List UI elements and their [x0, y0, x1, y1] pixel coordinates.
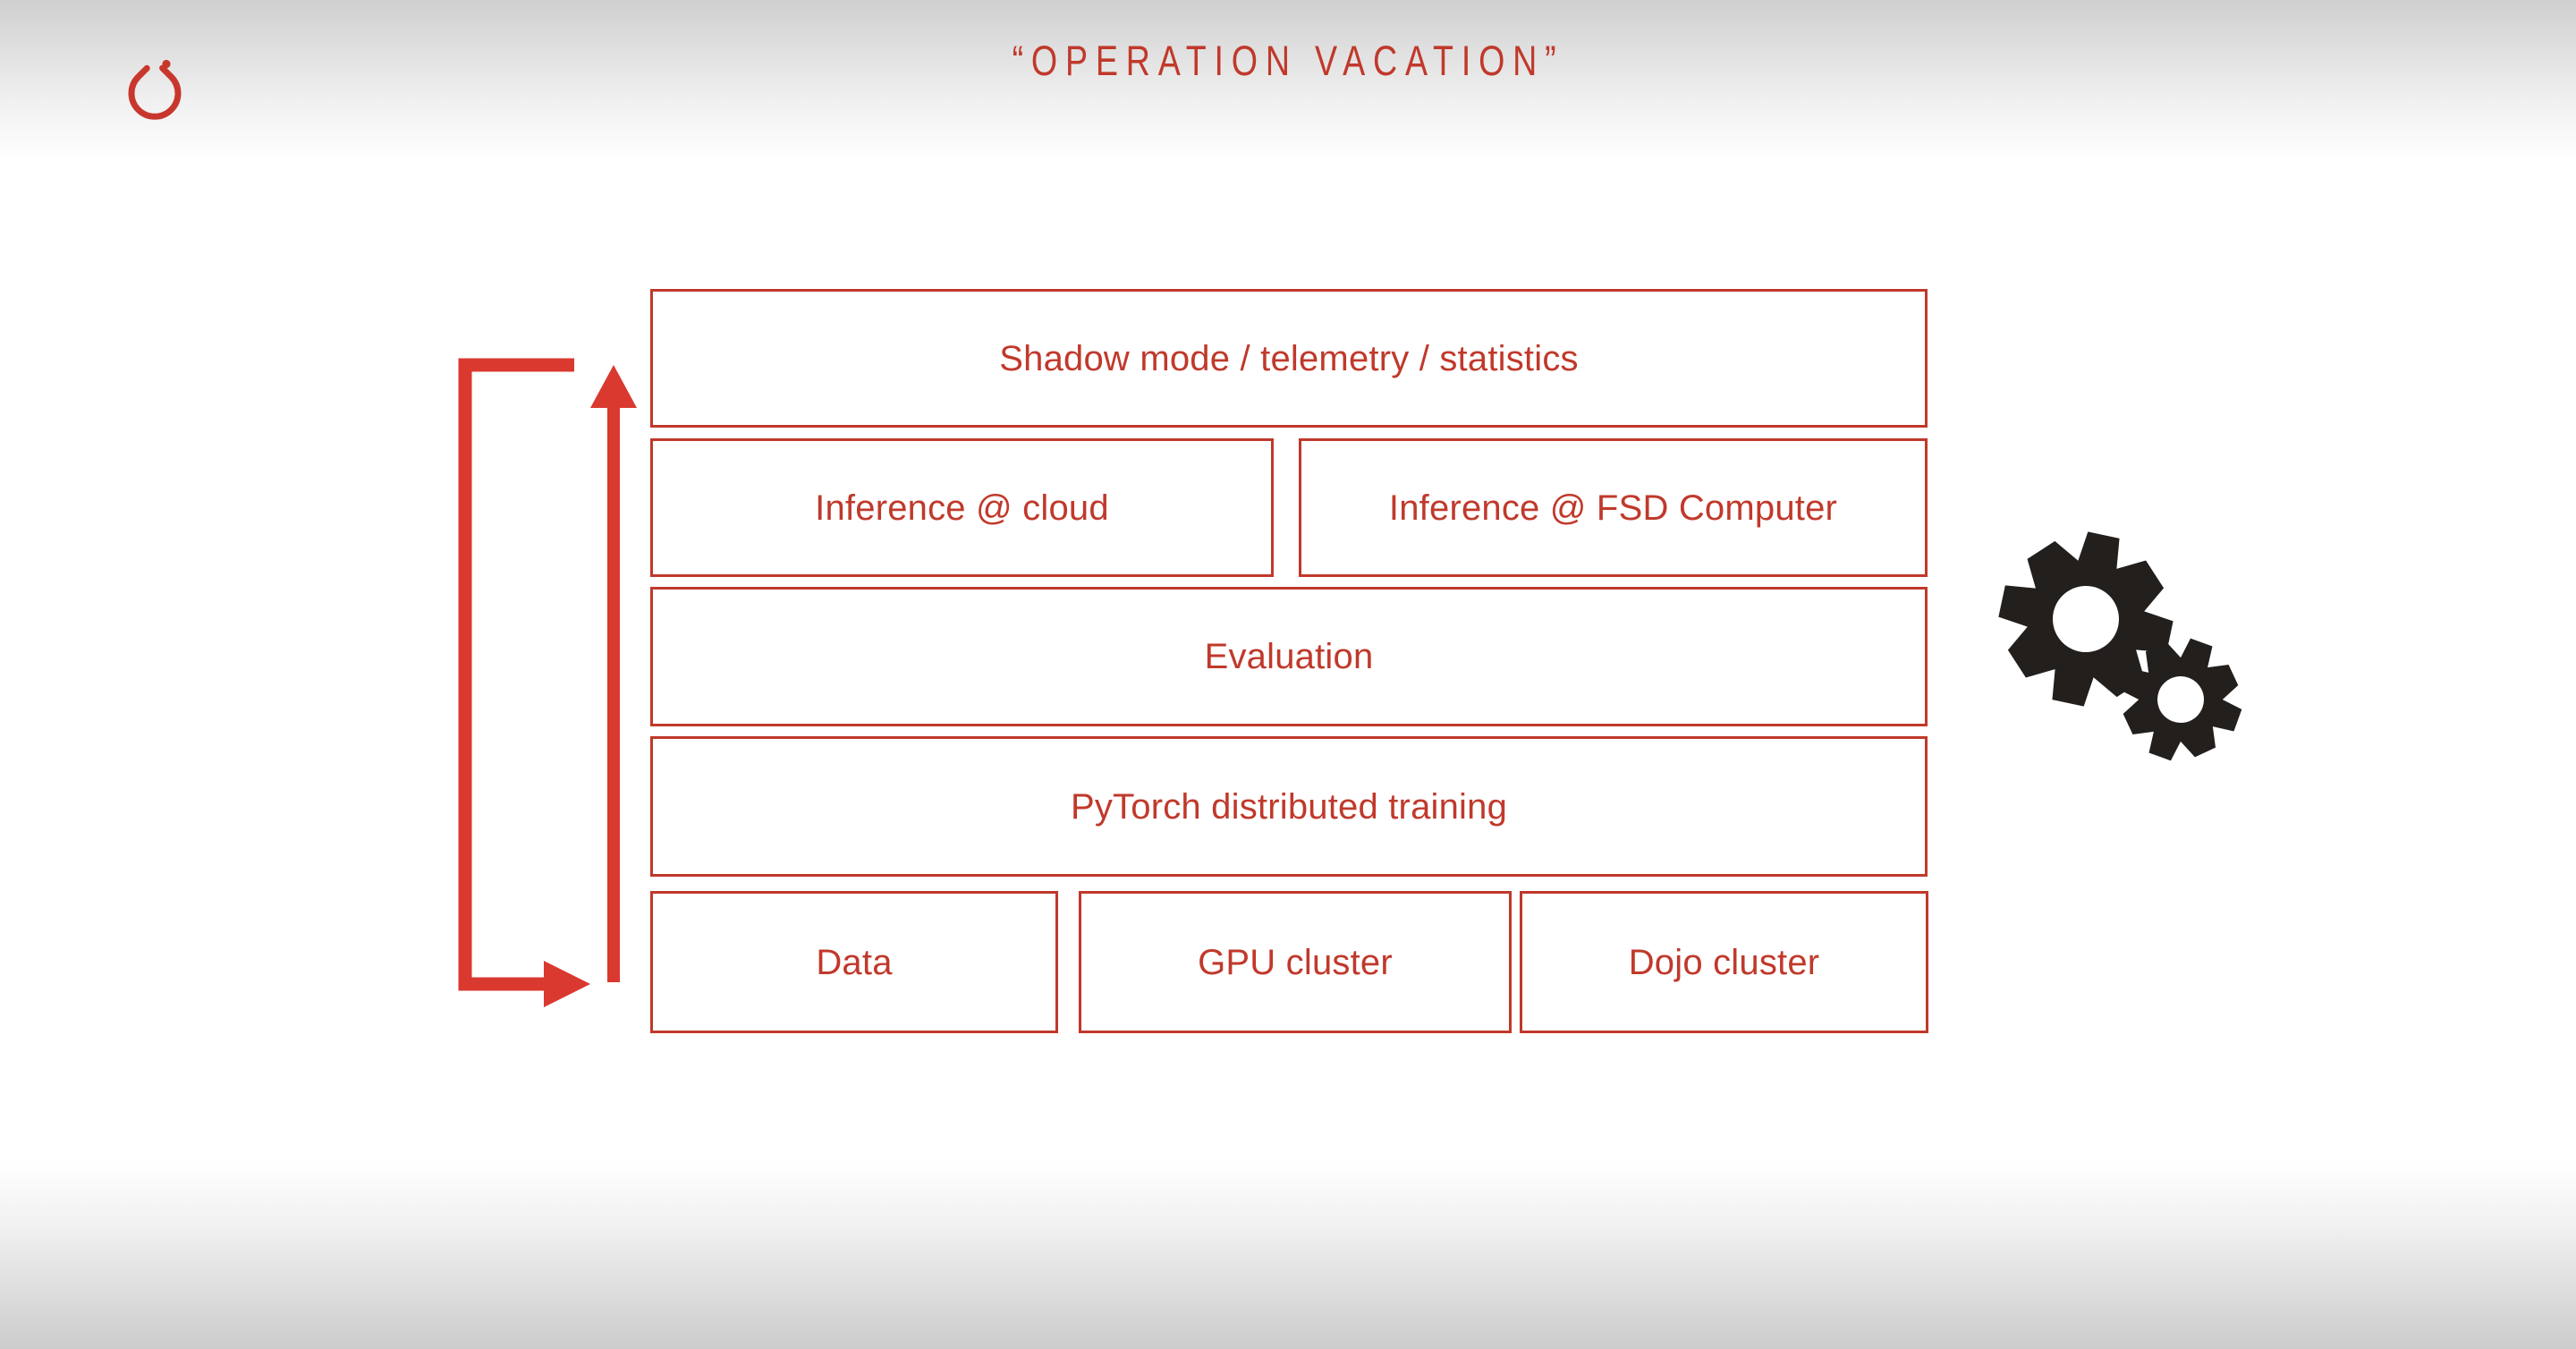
stack-box-label: GPU cluster [1198, 945, 1393, 980]
stack-box-inference-fsd-computer[interactable]: Inference @ FSD Computer [1299, 438, 1928, 577]
slide-canvas: “OPERATION VACATION” Shadow mode / telem… [0, 0, 2576, 1349]
gears-icon [1996, 530, 2256, 771]
feedback-loop-arrows [438, 349, 644, 1011]
stack-box-pytorch-distributed-training[interactable]: PyTorch distributed training [650, 736, 1928, 877]
arrow-up [590, 365, 637, 982]
stack-box-label: Dojo cluster [1629, 945, 1820, 980]
stack-box-data[interactable]: Data [650, 891, 1058, 1033]
stack-box-gpu-cluster[interactable]: GPU cluster [1079, 891, 1512, 1033]
stack-box-shadow-mode[interactable]: Shadow mode / telemetry / statistics [650, 289, 1928, 428]
arrow-right-loop [465, 365, 590, 1007]
stack-box-label: PyTorch distributed training [1071, 789, 1507, 825]
stack-box-label: Data [816, 945, 892, 980]
stack-box-inference-cloud[interactable]: Inference @ cloud [650, 438, 1274, 577]
stack-box-dojo-cluster[interactable]: Dojo cluster [1520, 891, 1928, 1033]
stack-box-label: Shadow mode / telemetry / statistics [999, 341, 1578, 377]
stack-box-evaluation[interactable]: Evaluation [650, 587, 1928, 726]
stack-box-label: Evaluation [1205, 639, 1374, 674]
stack-box-label: Inference @ cloud [815, 490, 1109, 526]
stack-box-label: Inference @ FSD Computer [1389, 490, 1837, 526]
